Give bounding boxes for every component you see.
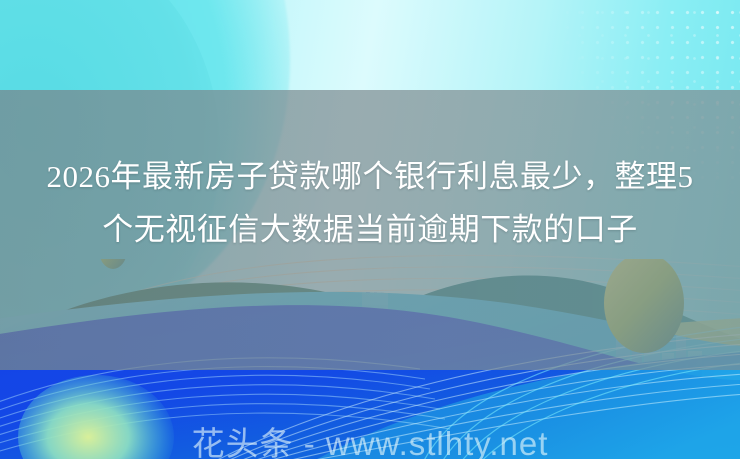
cover-image: 2026年最新房子贷款哪个银行利息最少，整理5个无视征信大数据当前逾期下款的口子… bbox=[0, 0, 740, 459]
page-title: 2026年最新房子贷款哪个银行利息最少，整理5个无视征信大数据当前逾期下款的口子 bbox=[40, 150, 700, 256]
